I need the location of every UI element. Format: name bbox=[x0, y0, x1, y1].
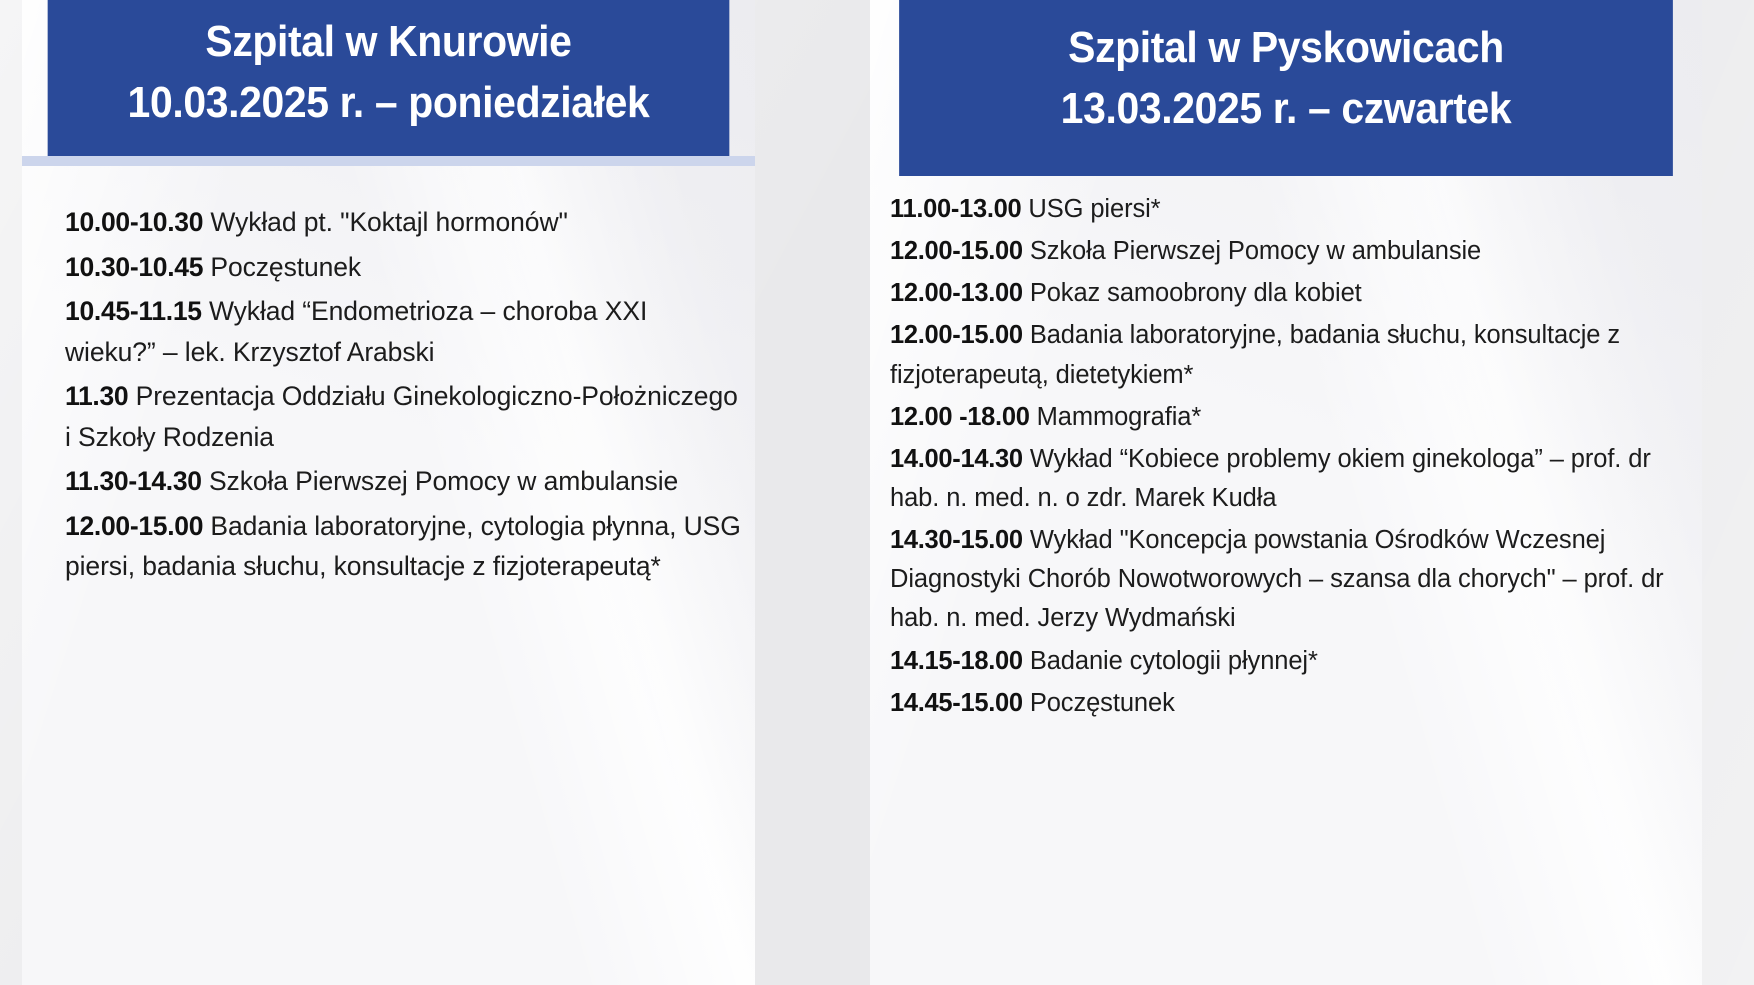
schedule-entry: 10.00-10.30 Wykład pt. "Koktajl hormonów… bbox=[65, 202, 741, 243]
schedule-card-pyskowice: Szpital w Pyskowicach 13.03.2025 r. – cz… bbox=[870, 0, 1702, 985]
entry-time: 10.45-11.15 bbox=[65, 296, 202, 326]
card-header-pyskowice: Szpital w Pyskowicach 13.03.2025 r. – cz… bbox=[899, 0, 1673, 176]
entry-text: Poczęstunek bbox=[203, 252, 361, 282]
entry-time: 14.30-15.00 bbox=[890, 526, 1023, 554]
entry-time: 10.30-10.45 bbox=[65, 252, 203, 282]
card-header-date: 10.03.2025 r. – poniedziałek bbox=[57, 73, 720, 134]
entry-time: 14.00-14.30 bbox=[890, 445, 1023, 473]
entry-text: Mammografia* bbox=[1030, 403, 1202, 431]
entry-time: 14.15-18.00 bbox=[890, 647, 1023, 675]
schedule-entry: 14.30-15.00 Wykład "Koncepcja powstania … bbox=[890, 521, 1682, 638]
schedule-entry: 11.30 Prezentacja Oddziału Ginekologiczn… bbox=[65, 376, 741, 457]
entry-time: 10.00-10.30 bbox=[65, 207, 203, 237]
entry-time: 11.30-14.30 bbox=[65, 466, 202, 496]
entry-time: 14.45-15.00 bbox=[890, 689, 1023, 717]
schedule-entry: 14.00-14.30 Wykład “Kobiece problemy oki… bbox=[890, 440, 1682, 518]
entry-time: 12.00-15.00 bbox=[890, 321, 1023, 349]
schedule-columns: Szpital w Knurowie 10.03.2025 r. – ponie… bbox=[0, 0, 1754, 985]
card-header-date: 13.03.2025 r. – czwartek bbox=[908, 79, 1663, 140]
card-header-title: Szpital w Knurowie bbox=[57, 12, 720, 73]
entry-time: 12.00-15.00 bbox=[65, 511, 203, 541]
schedule-poster: Szpital w Knurowie 10.03.2025 r. – ponie… bbox=[0, 0, 1754, 985]
entry-text: Prezentacja Oddziału Ginekologiczno-Poło… bbox=[65, 381, 738, 452]
entry-time: 12.00-13.00 bbox=[890, 279, 1023, 307]
entry-time: 12.00-15.00 bbox=[890, 237, 1023, 265]
schedule-entry: 12.00 -18.00 Mammografia* bbox=[890, 398, 1682, 437]
card-header-title: Szpital w Pyskowicach bbox=[908, 18, 1663, 79]
card-header-underline bbox=[22, 156, 755, 166]
schedule-entry: 10.30-10.45 Poczęstunek bbox=[65, 247, 741, 288]
entry-text: Poczęstunek bbox=[1023, 689, 1175, 717]
entry-text: Pokaz samoobrony dla kobiet bbox=[1023, 279, 1362, 307]
entry-time: 11.30 bbox=[65, 381, 128, 411]
entry-text: USG piersi* bbox=[1021, 195, 1160, 223]
schedule-card-knurow: Szpital w Knurowie 10.03.2025 r. – ponie… bbox=[22, 0, 755, 985]
entry-time: 11.00-13.00 bbox=[890, 195, 1021, 223]
column-gap bbox=[755, 0, 870, 985]
schedule-list-pyskowice: 11.00-13.00 USG piersi* 12.00-15.00 Szko… bbox=[870, 176, 1702, 985]
entry-text: Badanie cytologii płynnej* bbox=[1023, 647, 1318, 675]
card-header-knurow: Szpital w Knurowie 10.03.2025 r. – ponie… bbox=[48, 0, 730, 156]
schedule-list-knurow: 10.00-10.30 Wykład pt. "Koktajl hormonów… bbox=[22, 166, 755, 985]
schedule-entry: 11.00-13.00 USG piersi* bbox=[890, 190, 1682, 229]
schedule-entry: 10.45-11.15 Wykład “Endometrioza – choro… bbox=[65, 291, 741, 372]
schedule-entry: 14.15-18.00 Badanie cytologii płynnej* bbox=[890, 642, 1682, 681]
schedule-entry: 14.45-15.00 Poczęstunek bbox=[890, 684, 1682, 723]
entry-text: Szkoła Pierwszej Pomocy w ambulansie bbox=[202, 466, 678, 496]
entry-text: Szkoła Pierwszej Pomocy w ambulansie bbox=[1023, 237, 1481, 265]
schedule-entry: 12.00-15.00 Szkoła Pierwszej Pomocy w am… bbox=[890, 232, 1682, 271]
entry-time: 12.00 -18.00 bbox=[890, 403, 1030, 431]
schedule-entry: 11.30-14.30 Szkoła Pierwszej Pomocy w am… bbox=[65, 461, 741, 502]
schedule-entry: 12.00-15.00 Badania laboratoryjne, badan… bbox=[890, 316, 1682, 394]
schedule-entry: 12.00-15.00 Badania laboratoryjne, cytol… bbox=[65, 506, 741, 587]
entry-text: Wykład pt. "Koktajl hormonów" bbox=[203, 207, 568, 237]
schedule-entry: 12.00-13.00 Pokaz samoobrony dla kobiet bbox=[890, 274, 1682, 313]
